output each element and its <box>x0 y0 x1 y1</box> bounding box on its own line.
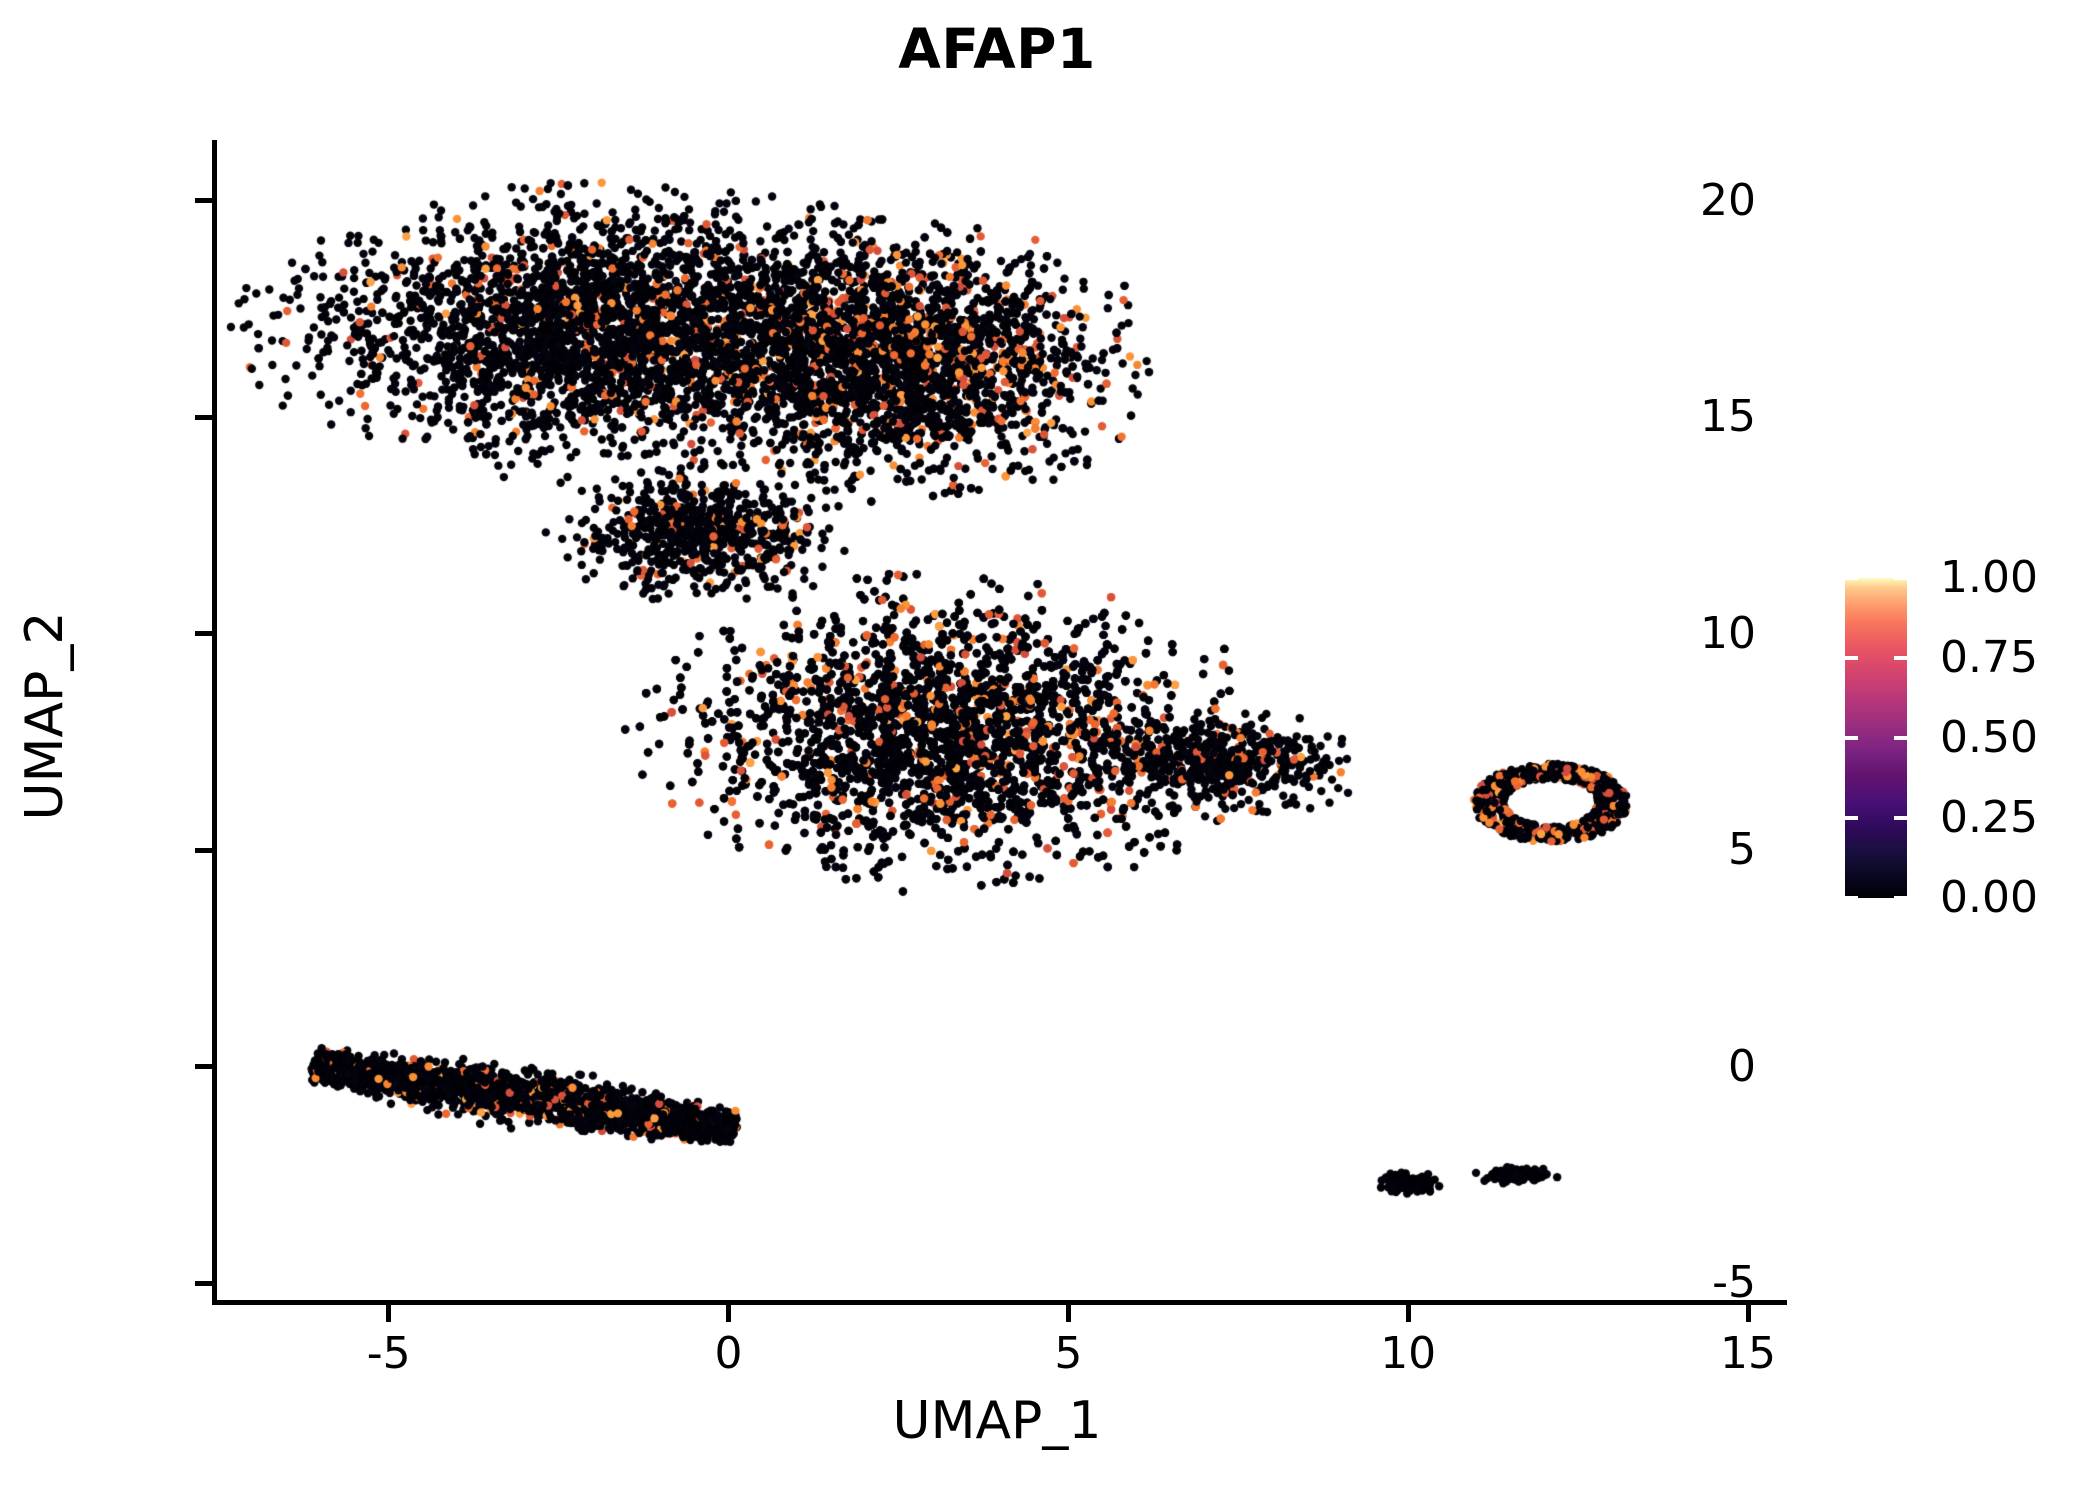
x-tick-mark <box>1066 1305 1071 1322</box>
y-tick-label: 15 <box>1700 395 1756 439</box>
y-tick-mark <box>195 415 212 420</box>
x-tick-label: 10 <box>1308 1332 1508 1376</box>
x-axis-spine <box>212 1300 1787 1305</box>
colorbar-tick-mark <box>1894 736 1907 740</box>
colorbar-tick-mark <box>1845 576 1858 580</box>
y-tick-label: 5 <box>1728 828 1756 872</box>
colorbar-tick-mark <box>1894 656 1907 660</box>
x-tick-mark <box>386 1305 391 1322</box>
colorbar-tick-label: 0.00 <box>1940 876 2038 920</box>
x-tick-label: 5 <box>968 1332 1168 1376</box>
colorbar-tick-label: 0.25 <box>1940 796 2038 840</box>
y-tick-mark <box>195 1281 212 1286</box>
colorbar-tick-label: 0.75 <box>1940 636 2038 680</box>
y-axis-spine <box>212 140 217 1305</box>
colorbar-tick-mark <box>1894 816 1907 820</box>
plot-axes: -505101520 -5051015 <box>212 140 1782 1305</box>
y-axis-label: UMAP_2 <box>19 416 71 1016</box>
x-tick-mark <box>1746 1305 1751 1322</box>
colorbar-tick-mark <box>1845 656 1858 660</box>
x-tick-label: 15 <box>1648 1332 1848 1376</box>
colorbar-tick-mark <box>1894 576 1907 580</box>
x-tick-label: 0 <box>629 1332 829 1376</box>
scatter-canvas <box>212 140 1782 1305</box>
y-tick-mark <box>195 848 212 853</box>
colorbar: 1.000.750.500.250.00 <box>1845 578 2095 908</box>
y-tick-mark <box>195 198 212 203</box>
x-tick-label: -5 <box>289 1332 489 1376</box>
umap-figure: AFAP1 -505101520 -5051015 UMAP_1 UMAP_2 … <box>0 0 2100 1500</box>
x-axis-label: UMAP_1 <box>212 1395 1782 1447</box>
y-tick-label: -5 <box>1712 1261 1756 1305</box>
colorbar-tick-mark <box>1894 896 1907 900</box>
x-tick-mark <box>726 1305 731 1322</box>
colorbar-tick-label: 0.50 <box>1940 716 2038 760</box>
y-tick-label: 0 <box>1728 1045 1756 1089</box>
y-tick-mark <box>195 1064 212 1069</box>
page-title: AFAP1 <box>212 22 1782 77</box>
colorbar-tick-mark <box>1845 736 1858 740</box>
x-tick-mark <box>1406 1305 1411 1322</box>
y-tick-label: 20 <box>1700 179 1756 223</box>
colorbar-tick-label: 1.00 <box>1940 556 2038 600</box>
colorbar-tick-mark <box>1845 816 1858 820</box>
y-tick-label: 10 <box>1700 612 1756 656</box>
colorbar-tick-mark <box>1845 896 1858 900</box>
y-tick-mark <box>195 631 212 636</box>
